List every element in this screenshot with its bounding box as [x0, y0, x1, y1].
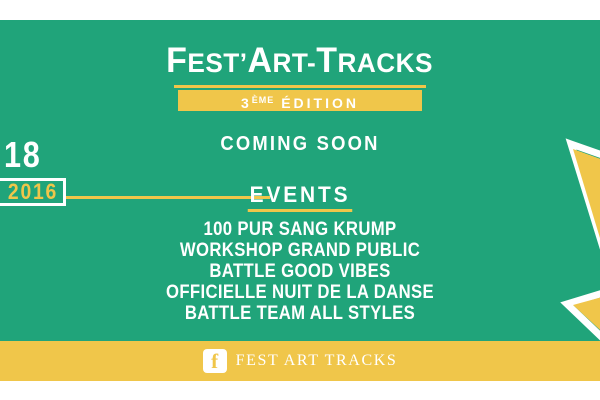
poster-main-panel: FEST’ART-TRACKS 3ÈME ÉDITION COMING SOON… — [0, 20, 600, 341]
edition-number: 3 — [241, 95, 252, 111]
footer-social-label: FEST ART TRACKS — [236, 352, 398, 370]
edition-badge: 3ÈME ÉDITION — [178, 90, 422, 111]
logo-wrap: FEST’ART-TRACKS 3ÈME ÉDITION — [162, 42, 437, 111]
list-item: WORKSHOP GRAND PUBLIC — [36, 240, 564, 261]
logo-text-racks: RACKS — [338, 48, 434, 78]
logo-letter-t: T — [317, 41, 338, 80]
edition-word: ÉDITION — [281, 95, 359, 111]
facebook-icon-glyph: f — [203, 349, 227, 373]
date-day: 18 — [4, 135, 41, 175]
events-heading: EVENTS — [0, 183, 600, 212]
logo-text-rt: RT — [273, 48, 307, 78]
festival-logo: FEST’ART-TRACKS 3ÈME ÉDITION — [0, 42, 600, 113]
footer-bar: f FEST ART TRACKS — [0, 341, 600, 381]
coming-soon-text: COMING SOON — [24, 133, 576, 156]
logo-underline-rule — [174, 85, 426, 88]
poster-canvas: FEST’ART-TRACKS 3ÈME ÉDITION COMING SOON… — [0, 0, 600, 400]
list-item: OFFICIELLE NUIT DE LA DANSE — [36, 282, 564, 303]
events-list: 100 PUR SANG KRUMP WORKSHOP GRAND PUBLIC… — [0, 219, 600, 324]
edition-ordinal: ÈME — [252, 95, 275, 105]
logo-letter-f: F — [167, 41, 188, 80]
list-item: BATTLE TEAM ALL STYLES — [36, 303, 564, 324]
logo-text-est: EST — [188, 48, 240, 78]
list-item: BATTLE GOOD VIBES — [36, 261, 564, 282]
facebook-icon[interactable]: f — [203, 349, 227, 373]
list-item: 100 PUR SANG KRUMP — [36, 219, 564, 240]
events-heading-label: EVENTS — [248, 183, 353, 212]
logo-title: FEST’ART-TRACKS — [167, 42, 434, 82]
logo-letter-a: A — [248, 41, 273, 80]
